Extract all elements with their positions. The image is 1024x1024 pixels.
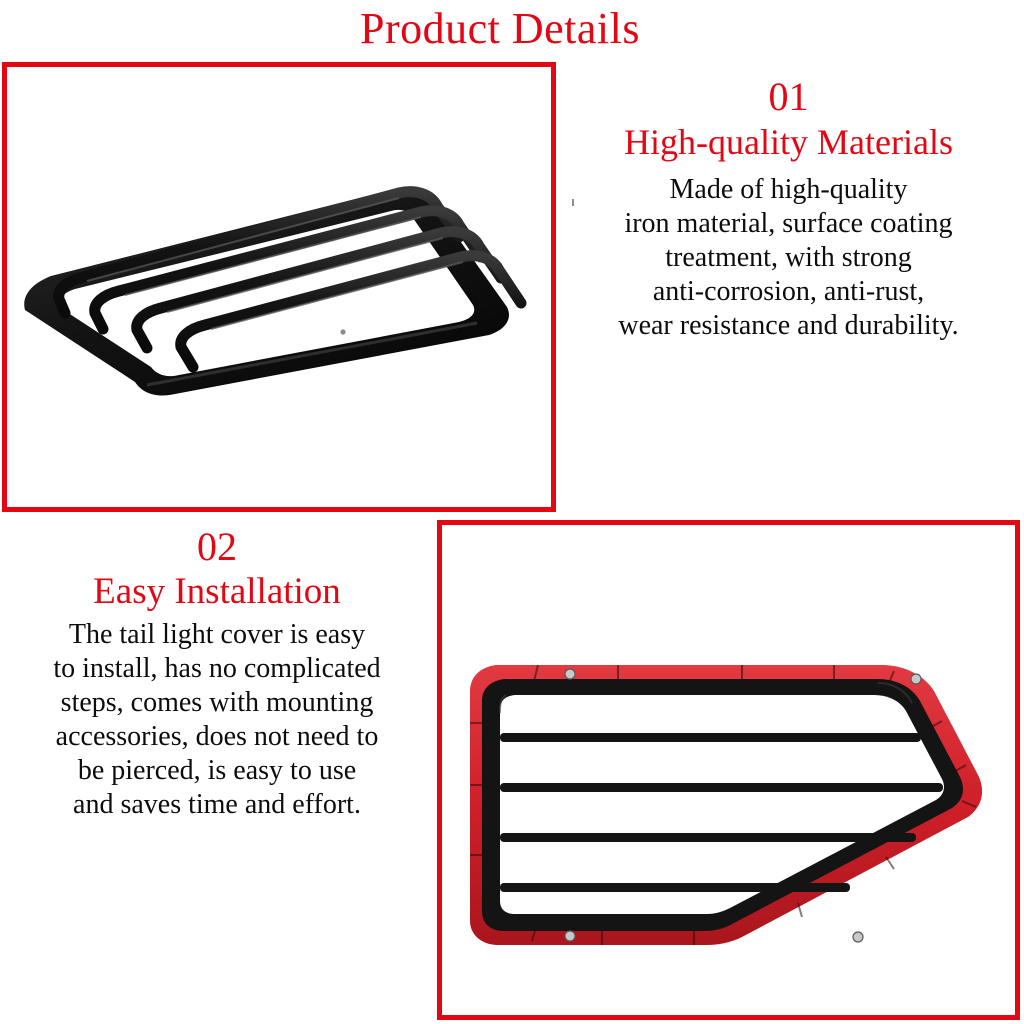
product-photo-panel-flat	[437, 520, 1020, 1020]
guard-flat-bar-2	[500, 783, 943, 792]
product-photo-panel-angled	[2, 62, 556, 512]
feature-body-01-line-1: Made of high-quality	[553, 173, 1024, 207]
feature-body-02-line-2: to install, has no complicated	[0, 652, 434, 686]
feature-body-01: Made of high-quality iron material, surf…	[553, 173, 1024, 343]
feature-body-01-line-5: wear resistance and durability.	[553, 309, 1024, 343]
guard-flat-bar-3	[500, 833, 916, 842]
feature-heading-01: High-quality Materials	[553, 120, 1024, 164]
photo-stage-angled	[7, 67, 551, 507]
feature-block-01: 01 High-quality Materials Made of high-q…	[553, 74, 1024, 343]
mounting-screw-bottom-left	[565, 931, 575, 941]
image-speck-artifact	[572, 199, 574, 206]
feature-body-02: The tail light cover is easy to install,…	[0, 618, 434, 822]
mounting-screw-bottom-right	[853, 932, 863, 942]
feature-body-02-line-1: The tail light cover is easy	[0, 618, 434, 652]
mounting-screw-top-left	[565, 669, 575, 679]
guard-flat-bar-4	[500, 883, 850, 892]
feature-body-02-line-5: be pierced, is easy to use	[0, 754, 434, 788]
guard-flat-bar-1	[500, 733, 921, 742]
feature-number-02: 02	[0, 524, 434, 570]
guard-mount-point	[340, 329, 345, 334]
feature-body-01-line-4: anti-corrosion, anti-rust,	[553, 275, 1024, 309]
feature-heading-02: Easy Installation	[0, 570, 434, 614]
guard-frame-opening	[500, 695, 944, 914]
mounting-screw-top-right	[911, 674, 921, 684]
feature-block-02: 02 Easy Installation The tail light cove…	[0, 524, 434, 822]
feature-number-01: 01	[553, 74, 1024, 120]
feature-body-02-line-3: steps, comes with mounting	[0, 686, 434, 720]
tail-light-guard-angled-image	[7, 67, 551, 507]
feature-body-02-line-6: and saves time and effort.	[0, 788, 434, 822]
photo-stage-flat	[442, 525, 1015, 1015]
tail-light-guard-flat-image	[442, 525, 1015, 1015]
feature-body-01-line-3: treatment, with strong	[553, 241, 1024, 275]
product-details-infographic: Product Details	[0, 0, 1024, 1024]
page-title: Product Details	[0, 4, 1000, 54]
feature-body-01-line-2: iron material, surface coating	[553, 207, 1024, 241]
feature-body-02-line-4: accessories, does not need to	[0, 720, 434, 754]
